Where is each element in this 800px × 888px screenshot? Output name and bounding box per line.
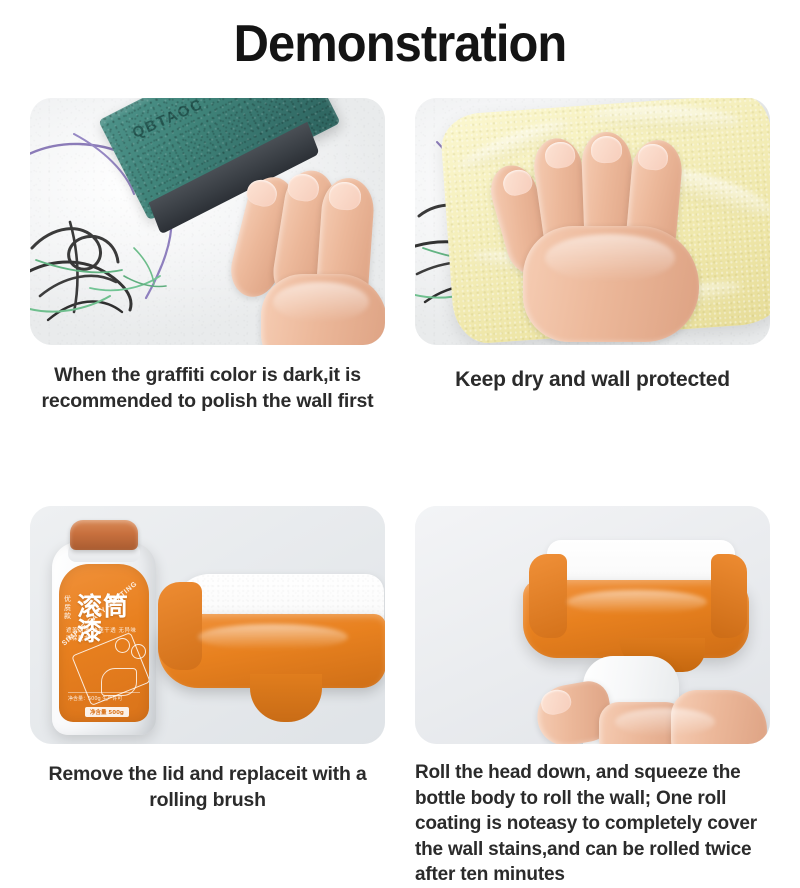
- roller-side-cap-3: [158, 582, 202, 670]
- panel-wipe-caption: Keep dry and wall protected: [415, 345, 770, 394]
- panel-replace-lid-image: 优质款 滚筒漆 遮盖污渍 快速干透 无异味 环保配方 SIMPLE EASY C…: [30, 506, 385, 744]
- roller-stem-3: [250, 674, 322, 722]
- label-divider: [68, 692, 140, 693]
- bottle-lid: [70, 520, 138, 550]
- hand-squeezing-bottle: [511, 656, 761, 744]
- panel-roll-wall-caption: Roll the head down, and squeeze the bott…: [415, 744, 770, 887]
- panel-wipe: Keep dry and wall protected: [415, 98, 770, 414]
- panel-replace-lid-caption: Remove the lid and replaceit with a roll…: [30, 744, 385, 813]
- demo-grid: QBTAOC When the gr: [30, 98, 770, 888]
- panel-wipe-image: [415, 98, 770, 345]
- label-foot-text: 净含量：500g 生产许可: [68, 695, 122, 702]
- panel-polish-caption: When the graffiti color is dark,it is re…: [30, 345, 385, 414]
- demonstration-page: Demonstration: [0, 0, 800, 800]
- bottle-label: 优质款 滚筒漆 遮盖污渍 快速干透 无异味 环保配方 SIMPLE EASY C…: [59, 564, 149, 722]
- panel-replace-lid: 优质款 滚筒漆 遮盖污渍 快速干透 无异味 环保配方 SIMPLE EASY C…: [30, 506, 385, 887]
- roller-brush-head: [158, 566, 385, 731]
- paint-bottle: 优质款 滚筒漆 遮盖污渍 快速干透 无异味 环保配方 SIMPLE EASY C…: [52, 520, 156, 735]
- panel-roll-wall: Roll the head down, and squeeze the bott…: [415, 506, 770, 887]
- panel-polish-image: QBTAOC: [30, 98, 385, 345]
- page-title: Demonstration: [24, 14, 776, 74]
- panel-polish: QBTAOC When the gr: [30, 98, 385, 414]
- demo-row-2: 优质款 滚筒漆 遮盖污渍 快速干透 无异味 环保配方 SIMPLE EASY C…: [30, 506, 770, 887]
- hand-wiping: [493, 130, 743, 345]
- hand-holding-block: [221, 170, 385, 345]
- roller-side-cap-left: [529, 554, 567, 638]
- label-side-tag: 优质款: [64, 595, 75, 619]
- demo-row-1: QBTAOC When the gr: [30, 98, 770, 414]
- label-badge-2: [131, 644, 146, 659]
- panel-roll-wall-image: [415, 506, 770, 744]
- roller-side-cap-right: [711, 554, 747, 638]
- label-net-weight: 净含量 500g: [85, 707, 129, 717]
